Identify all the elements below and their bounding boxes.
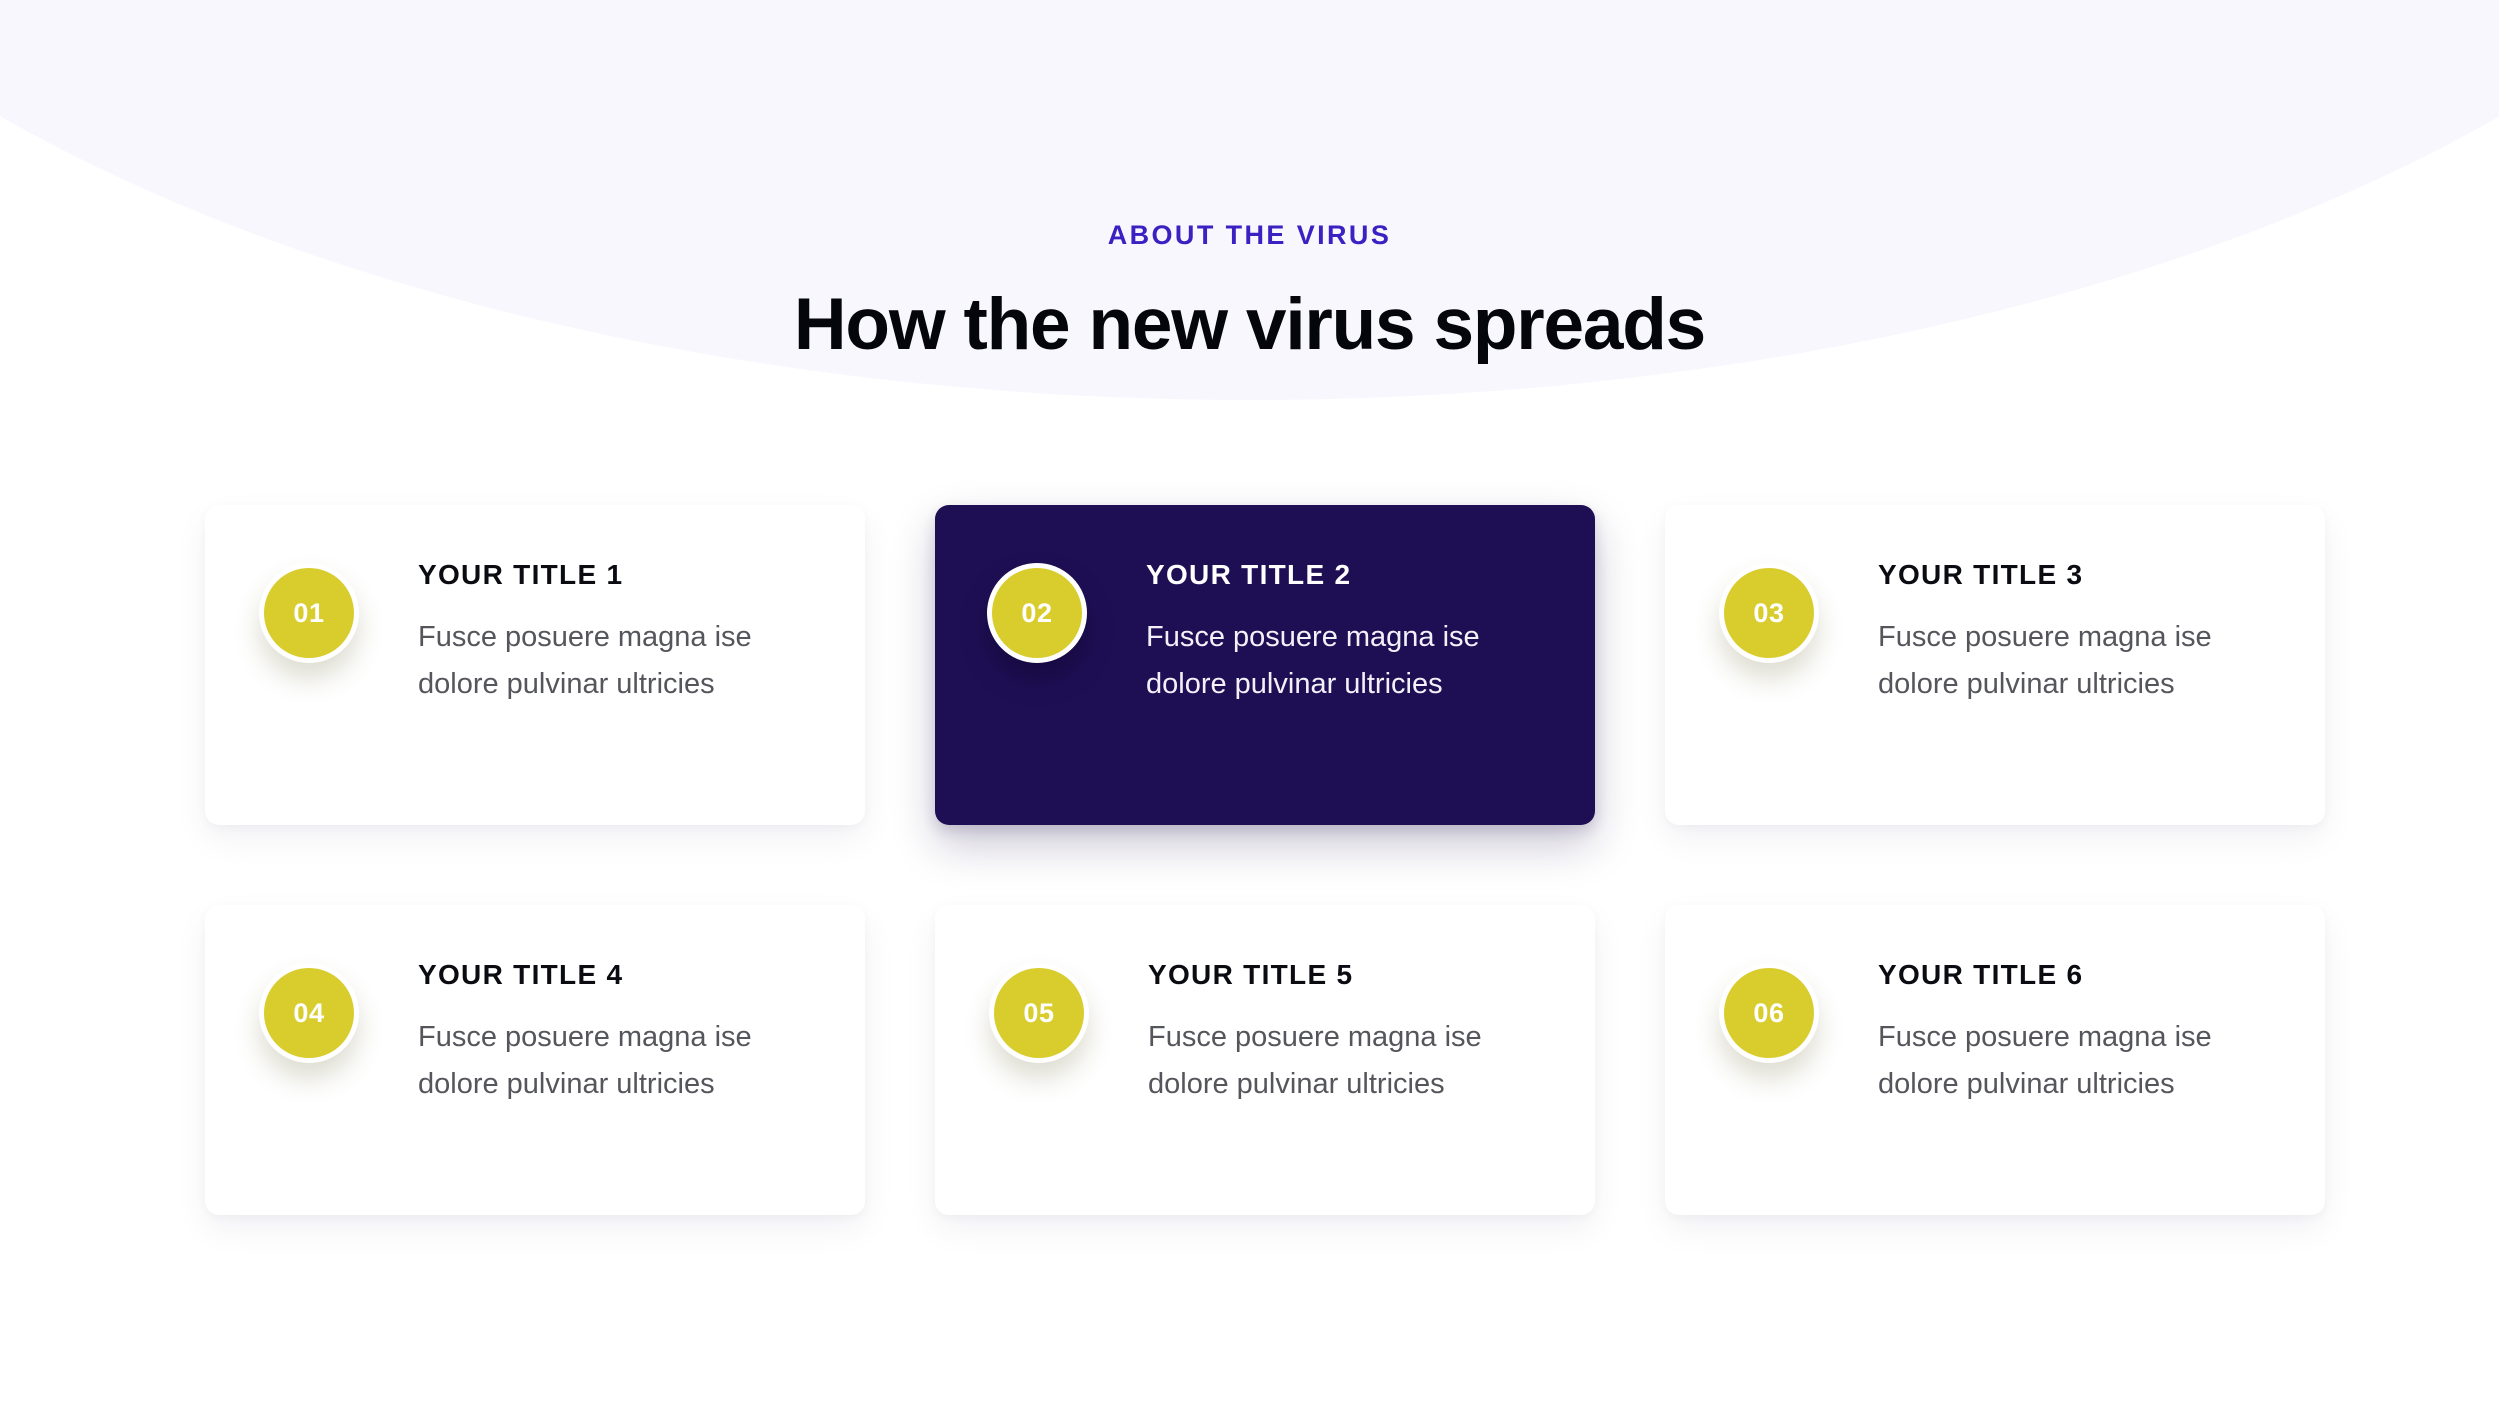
feature-card-text: YOUR TITLE 4 Fusce posuere magna ise dol… xyxy=(418,941,778,1108)
section-header: ABOUT THE VIRUS How the new virus spread… xyxy=(0,0,2499,414)
feature-card-02[interactable]: 02 YOUR TITLE 2 Fusce posuere magna ise … xyxy=(935,505,1595,825)
feature-card-title: YOUR TITLE 2 xyxy=(1146,561,1506,589)
section-eyebrow: ABOUT THE VIRUS xyxy=(0,222,2499,249)
feature-card-description: Fusce posuere magna ise dolore pulvinar … xyxy=(1878,1014,2238,1108)
feature-card-description: Fusce posuere magna ise dolore pulvinar … xyxy=(1878,614,2238,708)
feature-card-content: 03 YOUR TITLE 3 Fusce posuere magna ise … xyxy=(1719,541,2285,708)
feature-card-content: 05 YOUR TITLE 5 Fusce posuere magna ise … xyxy=(989,941,1555,1108)
number-badge-icon: 01 xyxy=(259,563,359,663)
feature-card-01[interactable]: 01 YOUR TITLE 1 Fusce posuere magna ise … xyxy=(205,505,865,825)
feature-card-title: YOUR TITLE 3 xyxy=(1878,561,2238,589)
number-badge-icon: 04 xyxy=(259,963,359,1063)
number-badge-icon: 05 xyxy=(989,963,1089,1063)
feature-card-04[interactable]: 04 YOUR TITLE 4 Fusce posuere magna ise … xyxy=(205,905,865,1215)
feature-card-title: YOUR TITLE 6 xyxy=(1878,961,2238,989)
feature-card-description: Fusce posuere magna ise dolore pulvinar … xyxy=(1148,1014,1508,1108)
number-badge-icon: 03 xyxy=(1719,563,1819,663)
feature-card-text: YOUR TITLE 3 Fusce posuere magna ise dol… xyxy=(1878,541,2238,708)
feature-card-title: YOUR TITLE 4 xyxy=(418,961,778,989)
feature-card-description: Fusce posuere magna ise dolore pulvinar … xyxy=(1146,614,1506,708)
feature-card-content: 04 YOUR TITLE 4 Fusce posuere magna ise … xyxy=(259,941,825,1108)
feature-card-content: 06 YOUR TITLE 6 Fusce posuere magna ise … xyxy=(1719,941,2285,1108)
feature-card-03[interactable]: 03 YOUR TITLE 3 Fusce posuere magna ise … xyxy=(1665,505,2325,825)
feature-card-05[interactable]: 05 YOUR TITLE 5 Fusce posuere magna ise … xyxy=(935,905,1595,1215)
number-badge-label: 04 xyxy=(293,998,324,1029)
feature-card-title: YOUR TITLE 5 xyxy=(1148,961,1508,989)
feature-card-text: YOUR TITLE 1 Fusce posuere magna ise dol… xyxy=(418,541,778,708)
feature-card-content: 01 YOUR TITLE 1 Fusce posuere magna ise … xyxy=(259,541,825,708)
number-badge-label: 02 xyxy=(1021,598,1052,629)
number-badge-label: 03 xyxy=(1753,598,1784,629)
page-title: How the new virus spreads xyxy=(0,286,2499,365)
feature-card-text: YOUR TITLE 6 Fusce posuere magna ise dol… xyxy=(1878,941,2238,1108)
number-badge-label: 06 xyxy=(1753,998,1784,1029)
number-badge-label: 01 xyxy=(293,598,324,629)
feature-card-title: YOUR TITLE 1 xyxy=(418,561,778,589)
number-badge-label: 05 xyxy=(1023,998,1054,1029)
number-badge-icon: 02 xyxy=(987,563,1087,663)
feature-card-description: Fusce posuere magna ise dolore pulvinar … xyxy=(418,1014,778,1108)
number-badge-icon: 06 xyxy=(1719,963,1819,1063)
feature-card-text: YOUR TITLE 5 Fusce posuere magna ise dol… xyxy=(1148,941,1508,1108)
feature-card-text: YOUR TITLE 2 Fusce posuere magna ise dol… xyxy=(1146,541,1506,708)
feature-card-description: Fusce posuere magna ise dolore pulvinar … xyxy=(418,614,778,708)
about-the-virus-section: ABOUT THE VIRUS How the new virus spread… xyxy=(0,0,2499,1406)
feature-card-content: 02 YOUR TITLE 2 Fusce posuere magna ise … xyxy=(987,541,1555,708)
feature-card-06[interactable]: 06 YOUR TITLE 6 Fusce posuere magna ise … xyxy=(1665,905,2325,1215)
feature-card-grid: 01 YOUR TITLE 1 Fusce posuere magna ise … xyxy=(205,505,2325,1215)
